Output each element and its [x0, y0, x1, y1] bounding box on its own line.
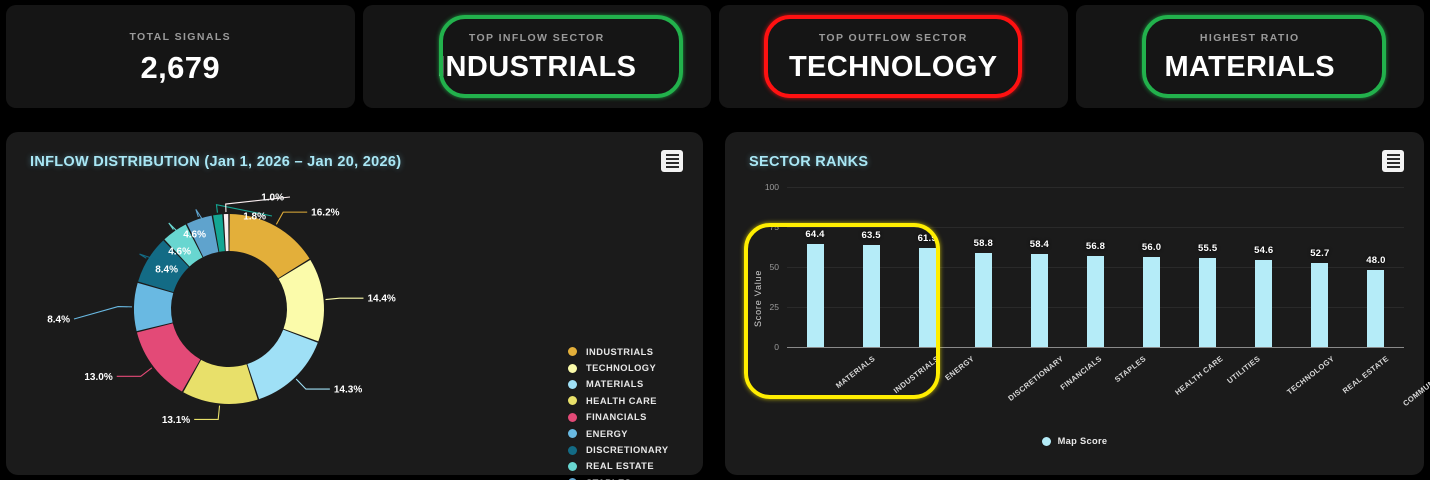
legend-color-swatch-icon	[568, 396, 577, 405]
donut-leader-line	[296, 379, 330, 389]
x-axis-tick-label: HEALTH CARE	[1173, 354, 1224, 397]
menu-bar-1	[666, 154, 679, 156]
donut-slice-value-label: 4.6%	[183, 230, 206, 241]
kpi-value: MATERIALS	[1164, 53, 1335, 82]
donut-leader-line	[74, 307, 132, 319]
menu-bar-2	[666, 158, 679, 160]
bar-health-care[interactable]	[1143, 257, 1160, 347]
legend-item-label: REAL ESTATE	[586, 461, 654, 471]
legend-item-technology[interactable]: TECHNOLOGY	[568, 360, 679, 375]
kpi-label: TOP OUTFLOW SECTOR	[819, 32, 968, 44]
donut-leader-line	[117, 368, 152, 376]
menu-bar-3	[666, 162, 679, 164]
legend-item-label: ENERGY	[586, 429, 628, 439]
kpi-card-total-signals[interactable]: TOTAL SIGNALS2,679	[6, 5, 355, 108]
donut-slice-value-label: 13.1%	[162, 415, 190, 426]
dashboard-root: TOTAL SIGNALS2,679TOP INFLOW SECTORINDUS…	[0, 0, 1430, 480]
legend-item-materials[interactable]: MATERIALS	[568, 377, 679, 392]
bar-value-label: 58.4	[1017, 239, 1061, 250]
legend-item-label: DISCRETIONARY	[586, 445, 668, 455]
x-axis-tick-label: STAPLES	[1112, 354, 1147, 384]
bar-utilities[interactable]	[1199, 258, 1216, 347]
legend-series-label: Map Score	[1058, 436, 1108, 446]
x-axis-tick-label: FINANCIALS	[1059, 354, 1104, 392]
x-axis-tick-label: UTILITIES	[1225, 354, 1262, 385]
kpi-value: 2,679	[140, 52, 220, 83]
bar-materials[interactable]	[807, 244, 824, 347]
bar-value-label: 61.9	[905, 233, 949, 244]
kpi-card-row: TOTAL SIGNALS2,679TOP INFLOW SECTORINDUS…	[6, 5, 1424, 108]
legend-color-swatch-icon	[568, 413, 577, 422]
x-axis-tick-label: COMMUNICATIONS	[1401, 354, 1430, 408]
x-axis-tick-label: DISCRETIONARY	[1007, 354, 1066, 403]
legend-color-swatch-icon	[568, 462, 577, 471]
hamburger-menu-icon[interactable]	[1382, 150, 1404, 172]
inflow-distribution-panel: INFLOW DISTRIBUTION (Jan 1, 2026 – Jan 2…	[6, 132, 703, 475]
legend-color-swatch-icon	[568, 347, 577, 356]
bar-value-label: 56.8	[1074, 241, 1118, 252]
kpi-card-top-outflow-sector[interactable]: TOP OUTFLOW SECTORTECHNOLOGY	[719, 5, 1068, 108]
bar-staples[interactable]	[1087, 256, 1104, 347]
donut-slice-value-label: 1.8%	[243, 212, 266, 223]
bar-chart-legend: Map Score	[725, 436, 1424, 446]
donut-slice-value-label: 8.4%	[155, 265, 178, 276]
kpi-card-top-inflow-sector[interactable]: TOP INFLOW SECTORINDUSTRIALS	[363, 5, 712, 108]
y-axis-tick-label: 100	[753, 182, 779, 192]
kpi-label: TOTAL SIGNALS	[129, 31, 231, 43]
gridline	[787, 187, 1404, 188]
bar-value-label: 56.0	[1130, 242, 1174, 253]
donut-slice-value-label: 14.3%	[334, 385, 362, 396]
bar-technology[interactable]	[1255, 260, 1272, 347]
donut-leader-line	[326, 298, 364, 299]
legend-color-swatch-icon	[568, 364, 577, 373]
kpi-value: TECHNOLOGY	[789, 53, 998, 82]
legend-item-financials[interactable]: FINANCIALS	[568, 410, 679, 425]
kpi-value: INDUSTRIALS	[437, 53, 636, 82]
bar-real-estate[interactable]	[1311, 263, 1328, 347]
legend-item-label: TECHNOLOGY	[586, 363, 656, 373]
bar-industrials[interactable]	[863, 245, 880, 347]
bar-financials[interactable]	[1031, 254, 1048, 347]
x-axis-tick-label: REAL ESTATE	[1341, 354, 1391, 395]
ranks-panel-title: SECTOR RANKS	[749, 154, 868, 170]
bar-value-label: 54.6	[1242, 245, 1286, 256]
donut-leader-line	[194, 406, 219, 420]
donut-slice-value-label: 13.0%	[84, 372, 112, 383]
bar-value-label: 55.5	[1186, 243, 1230, 254]
donut-slice-value-label: 4.6%	[168, 247, 191, 258]
x-axis-line	[787, 347, 1404, 348]
legend-color-swatch-icon	[1042, 437, 1051, 446]
bar-value-label: 63.5	[849, 230, 893, 241]
menu-bar-4	[666, 166, 679, 168]
x-axis-tick-label: INDUSTRIALS	[892, 354, 941, 395]
gridline	[787, 227, 1404, 228]
kpi-label: TOP INFLOW SECTOR	[469, 32, 605, 44]
bar-value-label: 52.7	[1298, 248, 1342, 259]
y-axis-tick-label: 75	[753, 222, 779, 232]
y-axis-tick-label: 0	[753, 342, 779, 352]
bar-value-label: 58.8	[961, 238, 1005, 249]
donut-leader-line	[276, 212, 307, 224]
y-axis-tick-label: 50	[753, 262, 779, 272]
bar-value-label: 48.0	[1354, 255, 1398, 266]
legend-item-staples[interactable]: STAPLES	[568, 475, 679, 480]
x-axis-tick-label: MATERIALS	[834, 354, 877, 390]
donut-svg: 16.2%14.4%14.3%13.1%13.0%8.4%8.4%4.6%4.6…	[16, 177, 556, 467]
kpi-card-highest-ratio[interactable]: HIGHEST RATIOMATERIALS	[1076, 5, 1425, 108]
menu-bar-2	[1387, 158, 1400, 160]
donut-slice-value-label: 1.0%	[261, 193, 284, 204]
sector-ranks-bar-chart: Score Value025507510064.4MATERIALS63.5IN…	[725, 172, 1424, 472]
donut-slice-value-label: 8.4%	[47, 315, 70, 326]
menu-bar-4	[1387, 166, 1400, 168]
legend-item-label: HEALTH CARE	[586, 396, 657, 406]
bar-communications[interactable]	[1367, 270, 1384, 347]
sector-ranks-panel: SECTOR RANKS Score Value025507510064.4MA…	[725, 132, 1424, 475]
legend-item-label: FINANCIALS	[586, 412, 647, 422]
x-axis-tick-label: TECHNOLOGY	[1285, 354, 1336, 397]
y-axis-tick-label: 25	[753, 302, 779, 312]
y-axis-title: Score Value	[753, 270, 763, 327]
inflow-panel-title: INFLOW DISTRIBUTION (Jan 1, 2026 – Jan 2…	[30, 154, 401, 170]
hamburger-menu-icon[interactable]	[661, 150, 683, 172]
legend-item-label: INDUSTRIALS	[586, 347, 653, 357]
legend-item-industrials[interactable]: INDUSTRIALS	[568, 344, 679, 359]
legend-item-discretionary[interactable]: DISCRETIONARY	[568, 442, 679, 457]
legend-item-health-care[interactable]: HEALTH CARE	[568, 393, 679, 408]
bar-energy[interactable]	[919, 248, 936, 347]
legend-color-swatch-icon	[568, 446, 577, 455]
donut-slice-value-label: 14.4%	[367, 294, 395, 305]
bar-value-label: 64.4	[793, 229, 837, 240]
kpi-label: HIGHEST RATIO	[1200, 32, 1300, 44]
donut-chart: 16.2%14.4%14.3%13.1%13.0%8.4%8.4%4.6%4.6…	[16, 177, 556, 467]
legend-item-real-estate[interactable]: REAL ESTATE	[568, 459, 679, 474]
donut-legend: INDUSTRIALSTECHNOLOGYMATERIALSHEALTH CAR…	[568, 344, 679, 480]
x-axis-tick-label: ENERGY	[944, 354, 977, 382]
bar-discretionary[interactable]	[975, 253, 992, 347]
legend-item-energy[interactable]: ENERGY	[568, 426, 679, 441]
legend-color-swatch-icon	[568, 380, 577, 389]
donut-slice-value-label: 16.2%	[311, 208, 339, 219]
menu-bar-3	[1387, 162, 1400, 164]
legend-item-label: MATERIALS	[586, 379, 644, 389]
menu-bar-1	[1387, 154, 1400, 156]
legend-color-swatch-icon	[568, 429, 577, 438]
